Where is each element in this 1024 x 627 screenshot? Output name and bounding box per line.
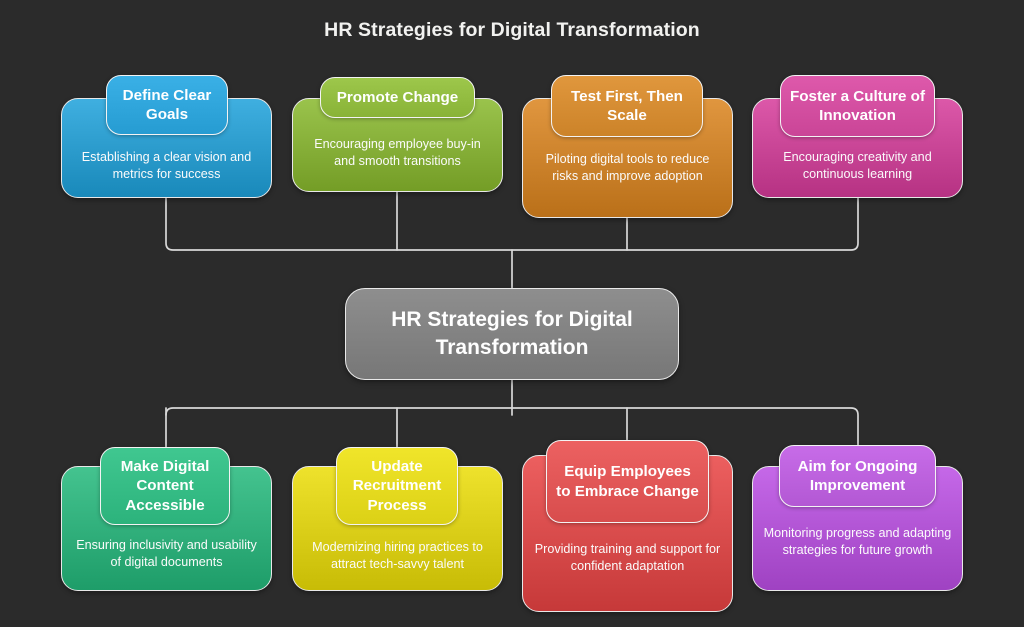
card-description: Encouraging creativity and continuous le… — [763, 149, 952, 182]
card-description: Establishing a clear vision and metrics … — [72, 149, 261, 182]
card-title-test-first-then-scale: Test First, Then Scale — [551, 75, 703, 137]
card-description: Modernizing hiring practices to attract … — [303, 539, 492, 572]
card-description: Ensuring inclusivity and usability of di… — [72, 537, 261, 570]
card-title-equip-employees-embrace-change: Equip Employees to Embrace Change — [546, 440, 709, 523]
card-title-foster-culture-innovation: Foster a Culture of Innovation — [780, 75, 935, 137]
card-description: Providing training and support for confi… — [533, 541, 722, 574]
card-description: Encouraging employee buy-in and smooth t… — [303, 136, 492, 169]
diagram-canvas: HR Strategies for Digital Transformation… — [0, 0, 1024, 627]
card-title-make-digital-content-accessible: Make Digital Content Accessible — [100, 447, 230, 525]
card-title-update-recruitment-process: Update Recruitment Process — [336, 447, 458, 525]
card-title-aim-for-ongoing-improvement: Aim for Ongoing Improvement — [779, 445, 936, 507]
center-node[interactable]: HR Strategies for Digital Transformation — [345, 288, 679, 380]
card-description: Piloting digital tools to reduce risks a… — [533, 151, 722, 184]
card-title-define-clear-goals: Define Clear Goals — [106, 75, 228, 135]
card-title-promote-change: Promote Change — [320, 77, 475, 118]
card-description: Monitoring progress and adapting strateg… — [763, 525, 952, 558]
page-title: HR Strategies for Digital Transformation — [0, 19, 1024, 42]
